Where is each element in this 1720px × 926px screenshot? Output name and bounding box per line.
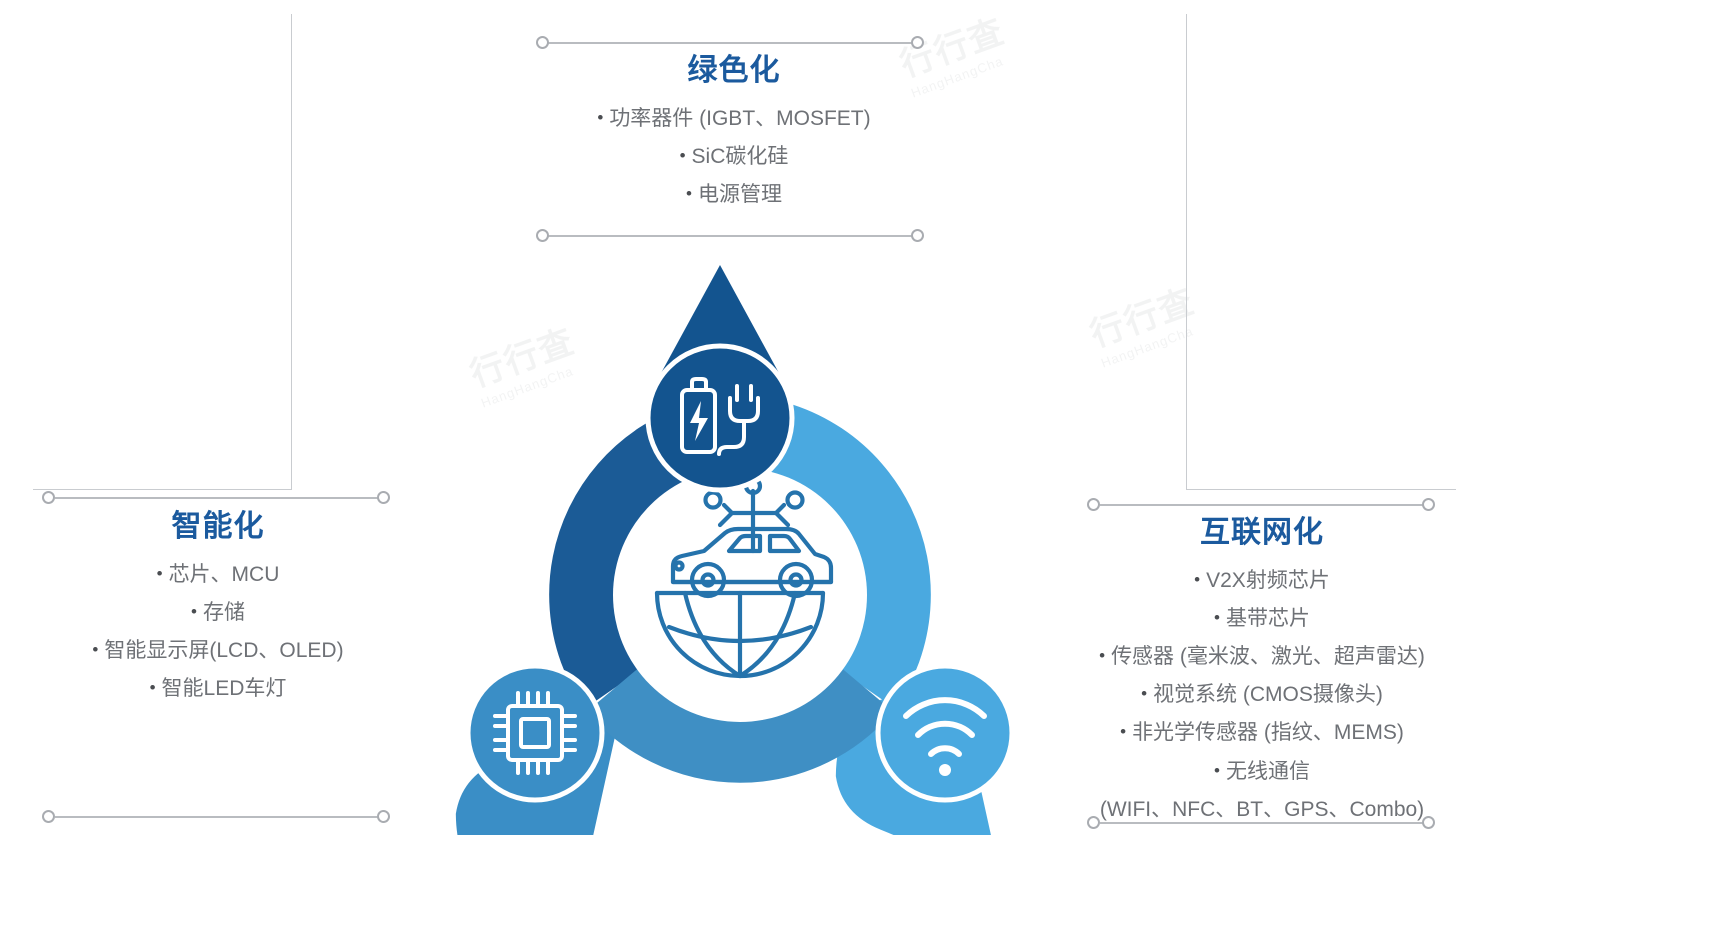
center-graphic <box>420 255 1060 835</box>
list-item: •基带芯片 <box>1066 600 1458 638</box>
bullet-dot-icon: • <box>150 678 156 697</box>
top-bracket-top-line <box>548 42 920 44</box>
bullet-dot-icon: • <box>1214 608 1220 627</box>
left-frame-horizontal <box>33 489 292 490</box>
bullet-dot-icon: • <box>157 564 163 583</box>
panel-internet-bullets: •V2X射频芯片 •基带芯片 •传感器 (毫米波、激光、超声雷达) •视觉系统 … <box>1066 562 1458 830</box>
list-item: •芯片、MCU <box>22 556 414 594</box>
chip-pin-circle <box>468 666 602 800</box>
panel-internet: 互联网化 •V2X射频芯片 •基带芯片 •传感器 (毫米波、激光、超声雷达) •… <box>1066 514 1458 829</box>
top-bracket-right-cap <box>911 36 924 49</box>
panel-green: 绿色化 •功率器件 (IGBT、MOSFET) •SiC碳化硅 •电源管理 <box>484 52 984 214</box>
right-frame-horizontal <box>1186 489 1456 490</box>
right-bracket-top-right-cap <box>1422 498 1435 511</box>
top-bracket-bottom-left-cap <box>536 229 549 242</box>
top-bracket-bottom-line <box>548 235 920 237</box>
panel-green-bullets: •功率器件 (IGBT、MOSFET) •SiC碳化硅 •电源管理 <box>484 100 984 215</box>
left-bracket-bottom-line <box>55 816 381 818</box>
panel-green-title: 绿色化 <box>484 52 984 90</box>
right-bracket-top-left-cap <box>1087 498 1100 511</box>
right-bracket-top-line <box>1100 504 1425 506</box>
left-bracket-bottom-left-cap <box>42 810 55 823</box>
list-item: •(WIFI、NFC、BT、GPS、Combo) <box>1066 791 1458 829</box>
top-bracket-bottom-right-cap <box>911 229 924 242</box>
bullet-dot-icon: • <box>92 640 98 659</box>
list-item: •功率器件 (IGBT、MOSFET) <box>484 100 984 138</box>
diagram-canvas: 行行査 HangHangCha 行行査 HangHangCha 行行査 Hang… <box>0 0 1720 926</box>
list-item: •智能显示屏(LCD、OLED) <box>22 632 414 670</box>
bullet-dot-icon: • <box>1120 722 1126 741</box>
panel-intelligent-bullets: •芯片、MCU •存储 •智能显示屏(LCD、OLED) •智能LED车灯 <box>22 556 414 709</box>
list-item: •传感器 (毫米波、激光、超声雷达) <box>1066 638 1458 676</box>
bullet-dot-icon: • <box>191 602 197 621</box>
top-bracket-left-cap <box>536 36 549 49</box>
left-frame-vertical <box>291 14 292 490</box>
bullet-dot-icon: • <box>686 184 692 203</box>
left-bracket-top-right-cap <box>377 491 390 504</box>
watermark: 行行査 HangHangCha <box>1082 273 1205 370</box>
right-frame-vertical <box>1186 14 1187 490</box>
battery-plug-pin-circle <box>648 346 792 490</box>
left-bracket-bottom-right-cap <box>377 810 390 823</box>
bullet-dot-icon: • <box>1099 646 1105 665</box>
list-item: •无线通信 <box>1066 753 1458 791</box>
bullet-dot-icon: • <box>1214 761 1220 780</box>
panel-internet-title: 互联网化 <box>1066 514 1458 552</box>
bullet-dot-icon: • <box>597 108 603 127</box>
list-item: •非光学传感器 (指纹、MEMS) <box>1066 714 1458 752</box>
list-item: •视觉系统 (CMOS摄像头) <box>1066 676 1458 714</box>
left-bracket-top-line <box>55 497 381 499</box>
list-item: •电源管理 <box>484 176 984 214</box>
bullet-dot-icon: • <box>1194 570 1200 589</box>
left-bracket-top-left-cap <box>42 491 55 504</box>
panel-intelligent-title: 智能化 <box>22 508 414 546</box>
bullet-dot-icon: • <box>1141 684 1147 703</box>
bullet-dot-icon: • <box>680 146 686 165</box>
wifi-pin-circle <box>878 666 1012 800</box>
list-item: •智能LED车灯 <box>22 670 414 708</box>
list-item: •SiC碳化硅 <box>484 138 984 176</box>
panel-intelligent: 智能化 •芯片、MCU •存储 •智能显示屏(LCD、OLED) •智能LED车… <box>22 508 414 708</box>
list-item: •存储 <box>22 594 414 632</box>
list-item: •V2X射频芯片 <box>1066 562 1458 600</box>
